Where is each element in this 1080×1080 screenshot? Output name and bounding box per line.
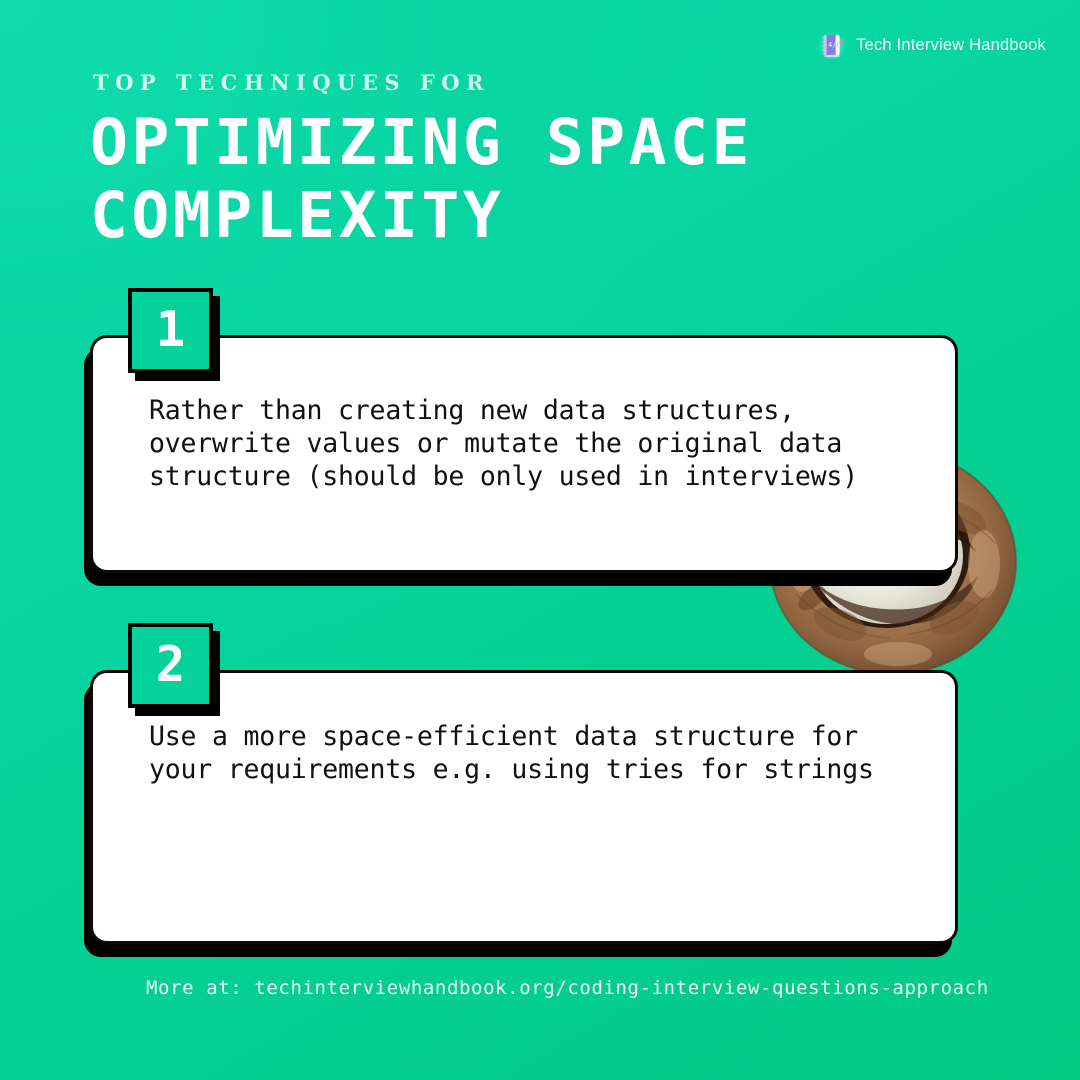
brand-logo[interactable]: 4/6 Tech Interview Handbook — [817, 30, 1046, 60]
technique-card-1: 1 Rather than creating new data structur… — [90, 288, 958, 573]
technique-card-2: 2 Use a more space-efficient data struct… — [90, 623, 958, 944]
card-number: 2 — [156, 640, 186, 689]
page-title: OPTIMIZING SPACE COMPLEXITY — [90, 106, 920, 252]
card-body: Use a more space-efficient data structur… — [90, 670, 958, 944]
eyebrow-label: TOP TECHNIQUES FOR — [93, 70, 490, 95]
brand-name: Tech Interview Handbook — [856, 36, 1046, 55]
card-body: Rather than creating new data structures… — [90, 335, 958, 573]
card-text: Rather than creating new data structures… — [93, 338, 955, 493]
card-text: Use a more space-efficient data structur… — [93, 673, 955, 786]
svg-text:4/6: 4/6 — [828, 41, 841, 49]
footer-link[interactable]: More at: techinterviewhandbook.org/codin… — [146, 977, 989, 999]
card-number-badge: 1 — [128, 288, 213, 373]
card-number: 1 — [156, 305, 186, 354]
book-icon: 4/6 — [817, 30, 847, 60]
card-number-badge: 2 — [128, 623, 213, 708]
